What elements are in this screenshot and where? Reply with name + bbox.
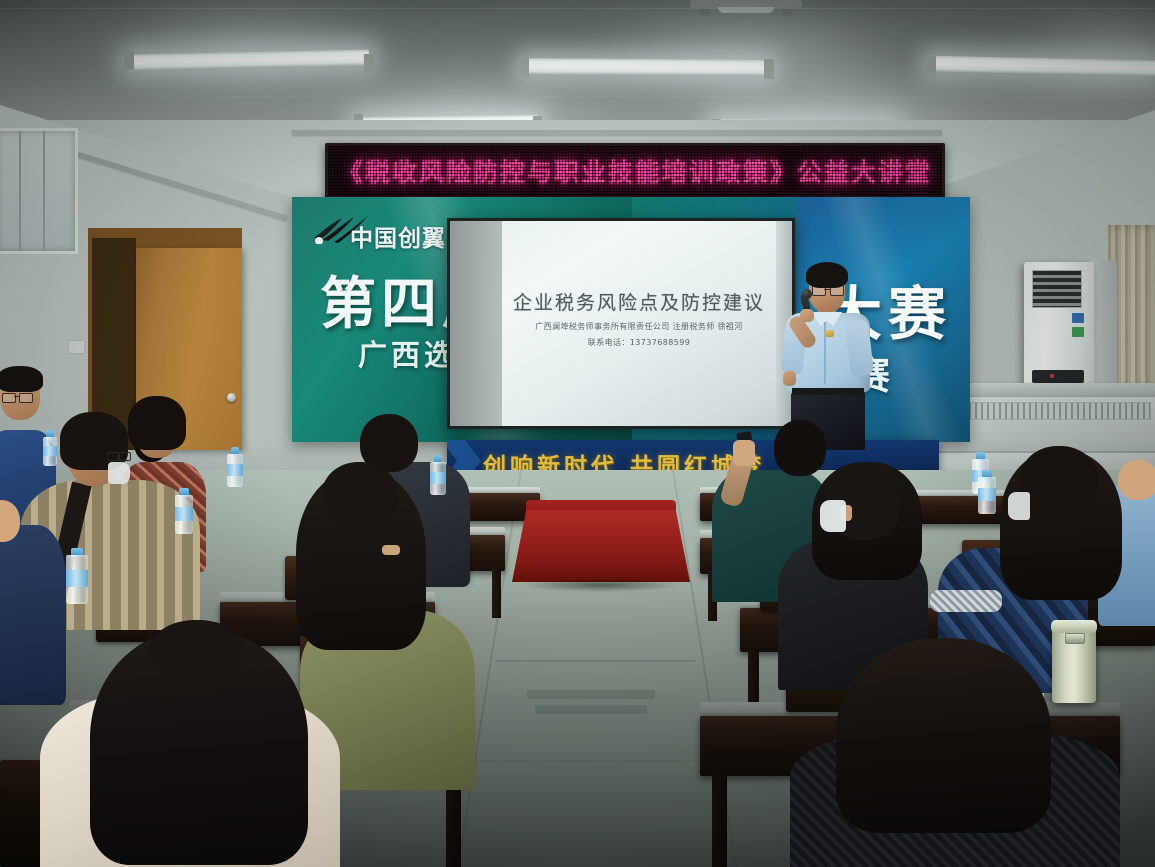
- desk-leg: [712, 772, 727, 867]
- person-ear: [382, 545, 400, 555]
- led-scrolling-banner: 《税收风险防控与职业技能培训政策》公益大讲堂: [325, 143, 945, 199]
- projector-lens-icon: [718, 7, 774, 13]
- floor-seam: [495, 660, 695, 662]
- cornice-moulding: [292, 130, 942, 135]
- person-head: [774, 420, 826, 476]
- air-conditioner-display: [1032, 370, 1084, 383]
- projection-screen-frame: 企业税务风险点及防控建议 广西澜埠税务师事务所有限责任公司 注册税务师 徐祖河 …: [447, 218, 795, 429]
- person-head: [150, 620, 244, 682]
- person-hand: [733, 440, 755, 466]
- speaker-hand: [800, 309, 814, 322]
- wristwatch-icon: [825, 330, 834, 337]
- water-bottle[interactable]: [66, 548, 88, 604]
- speaker-hair: [806, 262, 848, 288]
- person-hair: [128, 396, 186, 450]
- left-window: [0, 128, 78, 254]
- bottle-body: [43, 437, 57, 466]
- projection-screen: 企业税务风险点及防控建议 广西澜埠税务师事务所有限责任公司 注册税务师 徐祖河 …: [450, 221, 792, 426]
- person-head: [1118, 460, 1155, 500]
- led-banner-text: 《税收风险防控与职业技能培训政策》公益大讲堂: [338, 153, 932, 189]
- bottle-body: [175, 495, 193, 534]
- face-mask: [108, 462, 130, 484]
- table-shadow: [522, 578, 680, 592]
- water-bottle[interactable]: [43, 430, 57, 466]
- desk-leg: [492, 568, 501, 618]
- bottle-body: [66, 555, 88, 604]
- cabinet-grille: [944, 402, 1151, 420]
- ac-badge: [1072, 313, 1084, 323]
- person-hair: [836, 638, 1051, 833]
- ac-energy-label: [1072, 327, 1084, 337]
- ceiling-light-cap: [124, 50, 134, 70]
- ceiling-light-tube: [524, 58, 769, 76]
- speaker-hand-lower: [783, 371, 796, 386]
- speaker-belt: [792, 388, 864, 395]
- ceiling-light-cap: [519, 58, 529, 78]
- red-tablecloth: [512, 510, 690, 582]
- microphone-head-icon: [802, 289, 812, 299]
- water-bottle[interactable]: [430, 455, 446, 495]
- door-knob-icon[interactable]: [227, 393, 236, 402]
- floor-seam: [470, 760, 720, 762]
- person-head: [322, 462, 398, 528]
- air-conditioner-vent: [1032, 270, 1082, 308]
- bottle-body: [978, 477, 996, 514]
- thermos-clip-icon: [1065, 633, 1085, 644]
- light-switch[interactable]: [68, 340, 85, 354]
- face-mask: [1008, 492, 1030, 520]
- bottle-label: [43, 446, 57, 456]
- water-bottle[interactable]: [227, 447, 243, 487]
- bottle-label: [430, 472, 446, 484]
- slide-subtitle-phone: 联系电话：13737688599: [502, 337, 776, 348]
- water-bottle[interactable]: [978, 470, 996, 514]
- bottle-label: [175, 507, 193, 521]
- slide-subtitle-company: 广西澜埠税务师事务所有限责任公司 注册税务师 徐祖河: [502, 321, 776, 332]
- bottle-label: [66, 570, 88, 588]
- ceiling-light-cap: [926, 56, 936, 76]
- ceiling-light-cap: [364, 54, 374, 74]
- bottle-label: [227, 464, 243, 476]
- person-hair: [0, 366, 43, 392]
- thermos-flask: [1052, 627, 1096, 703]
- red-covered-table: [512, 500, 690, 608]
- floor-marking: [535, 705, 647, 714]
- ceiling-seam: [0, 8, 1155, 9]
- person-head: [1020, 446, 1098, 514]
- floor-marking: [527, 690, 655, 699]
- lecture-hall-photo: 《税收风险防控与职业技能培训政策》公益大讲堂 中国创翼 第四届 广西选拔赛 大赛…: [0, 0, 1155, 867]
- water-bottle[interactable]: [175, 488, 193, 534]
- thermos-lid: [1051, 620, 1097, 633]
- ceiling-light-cap: [764, 59, 774, 79]
- bottle-body: [430, 462, 446, 495]
- glasses-icon: [107, 452, 129, 459]
- backdrop-logo-text: 中国创翼: [350, 219, 446, 253]
- slide-title: 企业税务风险点及防控建议: [502, 288, 776, 315]
- face-mask: [820, 500, 846, 532]
- bottle-body: [227, 454, 243, 487]
- handbag: [930, 590, 1002, 612]
- screen-shadow-left: [450, 221, 502, 426]
- bottle-label: [978, 488, 996, 501]
- person-torso: [0, 525, 66, 705]
- glasses-icon: [2, 393, 32, 401]
